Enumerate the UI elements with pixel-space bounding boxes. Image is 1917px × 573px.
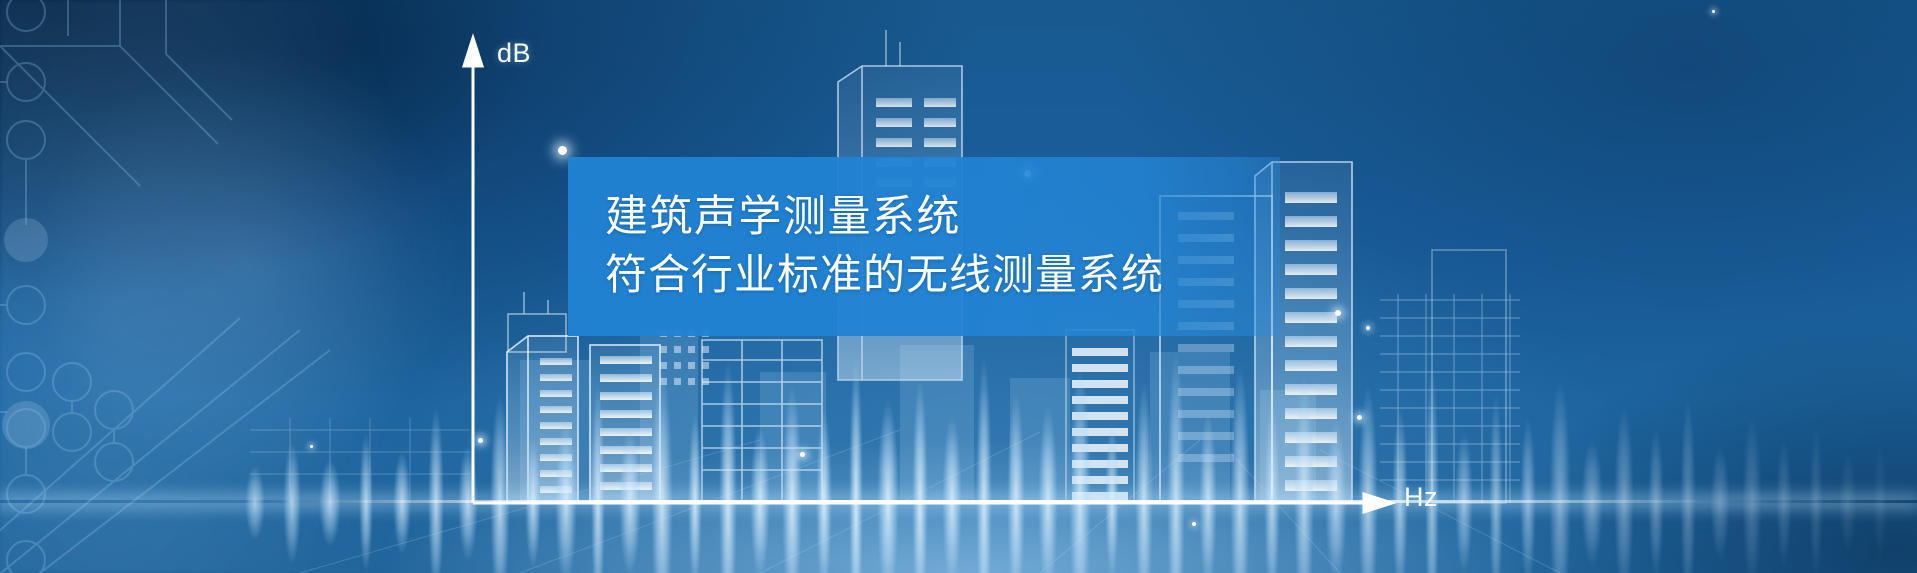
waveform-bar: [1549, 379, 1571, 573]
particle-dot: [1366, 326, 1370, 330]
waveform-bar: [283, 441, 301, 565]
waveform-bar: [1614, 405, 1634, 573]
waveform-bar: [1776, 437, 1792, 569]
waveform-bar: [1839, 451, 1857, 555]
waveform-bar: [1135, 381, 1153, 573]
hero-banner: dB Hz 建筑声学测量系统 符合行业标准的无线测量系统: [0, 0, 1917, 573]
y-axis-label: dB: [497, 38, 531, 69]
waveform-bar: [816, 407, 832, 573]
waveform-bar: [976, 357, 992, 573]
particle-dot: [478, 438, 483, 443]
waveform-bar: [1489, 393, 1503, 573]
x-axis-label: Hz: [1404, 482, 1438, 513]
waveform-bar: [1742, 415, 1762, 573]
waveform-bar: [1167, 351, 1185, 573]
waveform-bar: [525, 437, 541, 569]
waveform-bar: [1069, 369, 1091, 573]
waveform-bar: [1007, 391, 1025, 573]
waveform-bar: [1520, 417, 1536, 573]
horizon-glow-line: [0, 500, 1917, 503]
waveform-bar: [651, 369, 673, 573]
waveform-bar: [319, 459, 341, 547]
waveform-bar: [1294, 375, 1314, 573]
waveform-bar: [458, 445, 478, 561]
waveform-bar: [245, 465, 265, 541]
headline-text-block: 建筑声学测量系统 符合行业标准的无线测量系统: [605, 157, 1365, 336]
waveform-bar: [688, 413, 702, 573]
waveform-bar: [490, 395, 510, 573]
waveform-bar: [877, 399, 899, 573]
waveform-bar: [428, 407, 444, 573]
waveform-bar: [750, 425, 770, 573]
waveform-bar: [555, 419, 577, 573]
waveform-bar: [1680, 397, 1696, 573]
waveform-bar: [849, 353, 863, 573]
particle-dot: [1712, 10, 1715, 13]
waveform-bar: [591, 383, 605, 573]
arrow-right-icon: [1364, 494, 1392, 512]
waveform-bar: [1105, 423, 1119, 573]
waveform-bar: [782, 385, 802, 573]
waveform-bar: [1873, 443, 1887, 563]
waveform-bar: [942, 415, 962, 573]
waveform-bar: [1358, 385, 1378, 573]
waveform-bar: [1230, 365, 1250, 573]
waveform-bar: [912, 377, 928, 573]
waveform-bar: [1264, 397, 1280, 573]
particle-dot: [558, 146, 567, 155]
particle-dot: [800, 452, 805, 457]
waveform-bar: [393, 451, 411, 555]
waveform-bar: [1809, 423, 1823, 573]
headline-line-1: 建筑声学测量系统: [605, 195, 1365, 241]
waveform-bar: [1038, 405, 1058, 573]
headline-line-2: 符合行业标准的无线测量系统: [605, 253, 1365, 298]
particle-dot: [1357, 415, 1362, 420]
waveform-bar: [1199, 411, 1217, 573]
waveform-bar: [1425, 363, 1439, 573]
waveform-bar: [1325, 419, 1347, 573]
waveform-bar: [719, 361, 737, 573]
arrow-up-icon: [464, 38, 482, 66]
particle-dot: [310, 445, 313, 448]
particle-dot: [1192, 522, 1196, 526]
waveform-bar: [1581, 439, 1603, 567]
waveform-bar: [1710, 445, 1730, 561]
waveform-bar: [359, 433, 373, 573]
